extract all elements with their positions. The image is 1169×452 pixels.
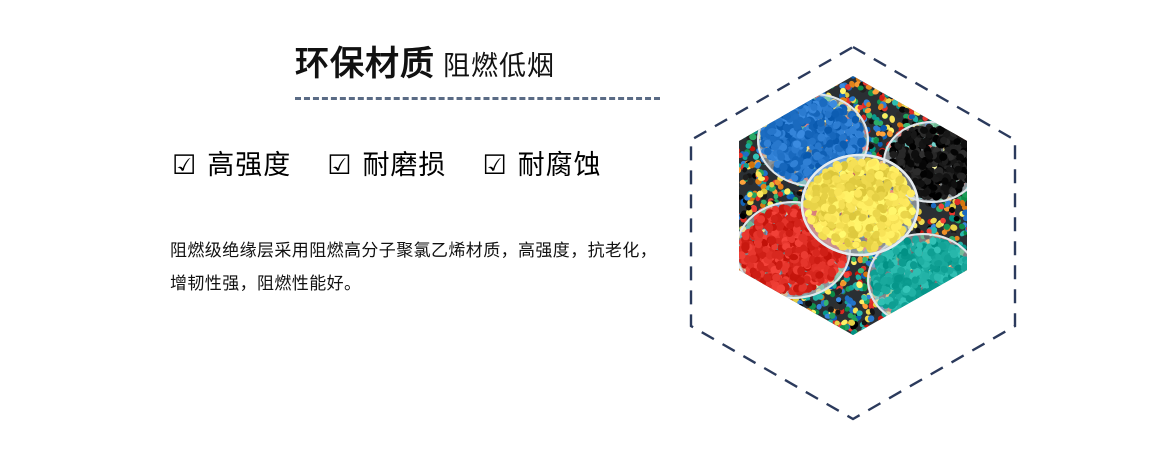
feature-item-corrosion-resistance: ☑ 耐腐蚀 bbox=[482, 152, 601, 179]
feature-item-strength: ☑ 高强度 bbox=[172, 152, 291, 179]
checkbox-checked-icon: ☑ bbox=[482, 152, 506, 179]
feature-item-wear-resistance: ☑ 耐磨损 bbox=[327, 152, 446, 179]
feature-label: 高强度 bbox=[207, 152, 291, 179]
checkbox-checked-icon: ☑ bbox=[327, 152, 351, 179]
bowl-yellow bbox=[801, 155, 918, 255]
title-dashed-divider bbox=[295, 97, 660, 100]
product-material-graphic bbox=[670, 0, 1030, 452]
page-title: 环保材质阻燃低烟 bbox=[295, 47, 555, 81]
feature-label: 耐磨损 bbox=[362, 152, 446, 179]
hexagon-photo-illustration bbox=[670, 0, 1030, 452]
body-paragraph: 阻燃级绝缘层采用阻燃高分子聚氯乙烯材质，高强度，抗老化，增韧性强，阻燃性能好。 bbox=[170, 234, 670, 300]
title-primary: 环保材质 bbox=[295, 45, 435, 83]
text-panel: 环保材质阻燃低烟 ☑ 高强度 ☑ 耐磨损 ☑ 耐腐蚀 阻燃级绝缘层采用阻燃高分子… bbox=[0, 0, 680, 452]
feature-label: 耐腐蚀 bbox=[518, 152, 602, 179]
title-secondary: 阻燃低烟 bbox=[443, 51, 555, 81]
pellet-photo bbox=[723, 64, 986, 352]
feature-list: ☑ 高强度 ☑ 耐磨损 ☑ 耐腐蚀 bbox=[172, 152, 602, 179]
checkbox-checked-icon: ☑ bbox=[172, 152, 196, 179]
